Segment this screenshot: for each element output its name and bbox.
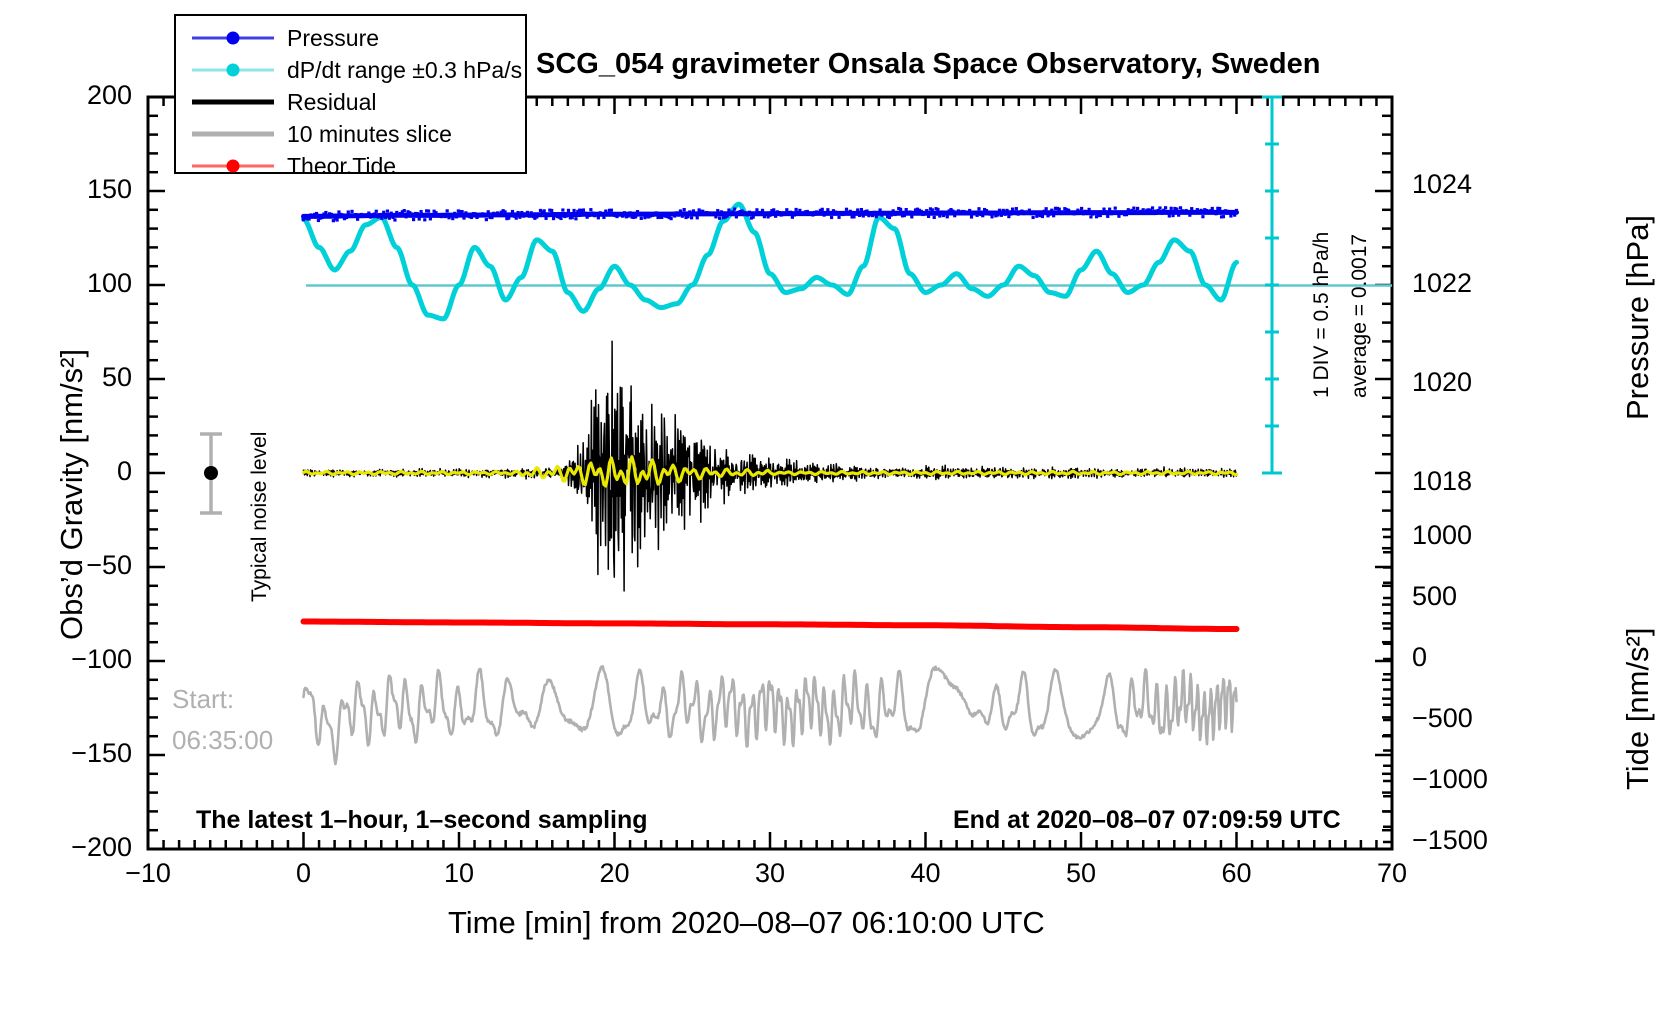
tide-tick-label: 0: [1412, 642, 1522, 673]
pressure-tick-label: 1018: [1412, 466, 1472, 497]
noise-level-label: Typical noise level: [248, 432, 272, 602]
y-axis-label-tide: Tide [nm/s²]: [1620, 628, 1656, 791]
y-tick-label: 200: [0, 80, 132, 111]
y-tick-label: −150: [0, 738, 132, 769]
dpdt-scale-bar: [1262, 97, 1282, 473]
legend-item[interactable]: Pressure: [192, 22, 525, 54]
legend-label: 10 minutes slice: [287, 121, 452, 148]
pressure-tick-label: 1024: [1412, 169, 1472, 200]
legend-label: Pressure: [287, 25, 379, 52]
x-axis-label: Time [min] from 2020–08–07 06:10:00 UTC: [448, 905, 1045, 941]
legend: Pressure dP/dt range ±0.3 hPa/s Residual…: [174, 14, 527, 174]
x-tick-label: 0: [259, 858, 349, 889]
y-tick-label: −100: [0, 644, 132, 675]
legend-item[interactable]: Theor.Tide: [192, 150, 525, 182]
legend-label: Residual: [287, 89, 377, 116]
gravimeter-chart-page: SCG_054 gravimeter Onsala Space Observat…: [0, 0, 1676, 1020]
legend-item[interactable]: dP/dt range ±0.3 hPa/s: [192, 54, 525, 86]
average-label: average = 0.0017: [1348, 234, 1372, 398]
tide-tick-label: −1500: [1412, 825, 1522, 856]
legend-label: dP/dt range ±0.3 hPa/s: [287, 57, 522, 84]
x-tick-label: 30: [725, 858, 815, 889]
x-tick-label: 40: [881, 858, 971, 889]
x-tick-label: 50: [1036, 858, 1126, 889]
x-tick-label: 10: [414, 858, 504, 889]
tide-tick-label: 500: [1412, 581, 1522, 612]
legend-item[interactable]: Residual: [192, 86, 525, 118]
legend-item[interactable]: 10 minutes slice: [192, 118, 525, 150]
x-tick-label: −10: [103, 858, 193, 889]
start-label: Start:: [172, 684, 234, 715]
tide-tick-label: 1000: [1412, 520, 1522, 551]
tide-tick-label: −500: [1412, 703, 1522, 734]
x-tick-label: 20: [570, 858, 660, 889]
legend-label: Theor.Tide: [287, 153, 396, 180]
bottom-left-note: The latest 1–hour, 1–second sampling: [196, 806, 648, 835]
bottom-right-note: End at 2020–08–07 07:09:59 UTC: [953, 806, 1341, 835]
x-tick-label: 70: [1347, 858, 1437, 889]
y-tick-label: 50: [0, 362, 132, 393]
start-time: 06:35:00: [172, 725, 273, 756]
y-tick-label: 100: [0, 268, 132, 299]
y-axis-label-pressure: Pressure [hPa]: [1620, 215, 1656, 420]
tide-tick-label: −1000: [1412, 764, 1522, 795]
y-tick-label: 0: [0, 456, 132, 487]
pressure-tick-label: 1020: [1412, 367, 1472, 398]
y-tick-label: −50: [0, 550, 132, 581]
x-tick-label: 60: [1192, 858, 1282, 889]
chart-title: SCG_054 gravimeter Onsala Space Observat…: [536, 48, 1320, 81]
noise-level-errorbar: [200, 434, 222, 513]
pressure-tick-label: 1022: [1412, 268, 1472, 299]
div-scale-label: 1 DIV = 0.5 hPa/h: [1310, 232, 1334, 398]
y-tick-label: 150: [0, 174, 132, 205]
